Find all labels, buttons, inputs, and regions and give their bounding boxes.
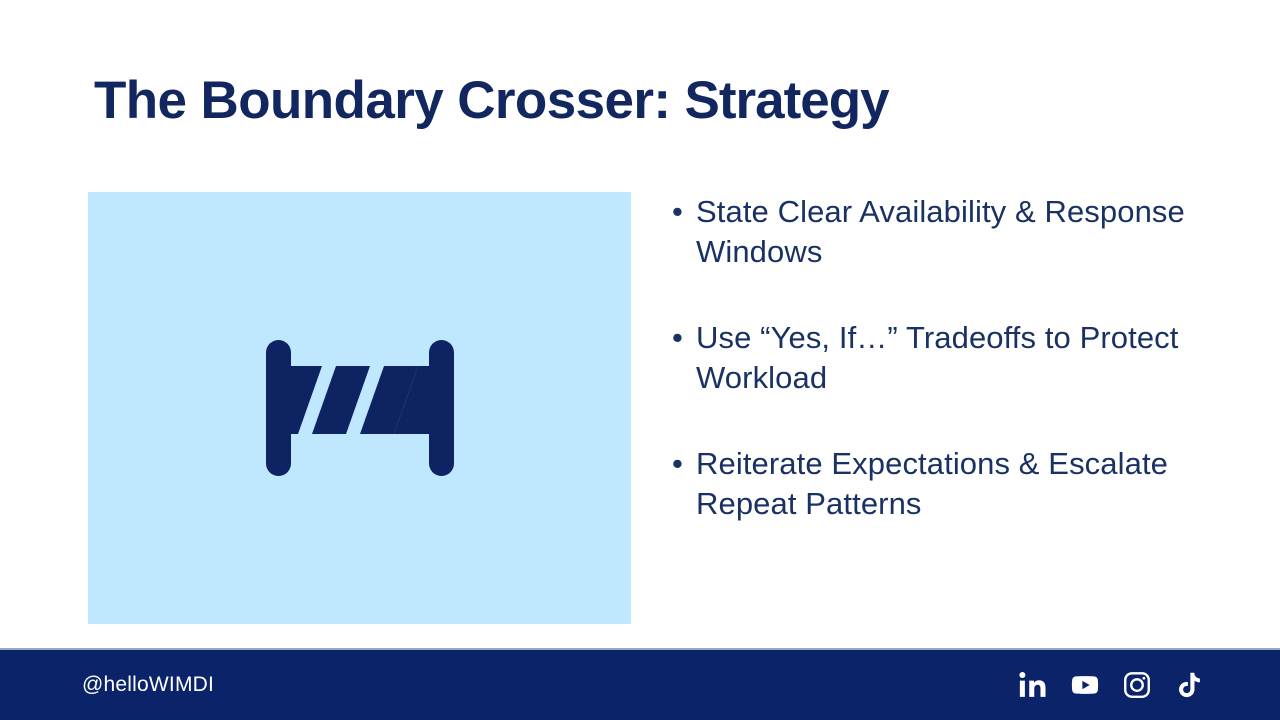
bullet-marker-icon: • [666, 444, 696, 484]
list-item: • State Clear Availability & Response Wi… [666, 192, 1186, 272]
social-icon-group [1018, 670, 1204, 700]
illustration-panel [88, 192, 631, 624]
footer-bar: @helloWIMDI [0, 648, 1280, 720]
page-title-main: The Boundary Crosser: [94, 71, 685, 130]
instagram-icon[interactable] [1122, 670, 1152, 700]
slide-canvas: The Boundary Crosser: Strategy [0, 0, 1280, 720]
bullet-text: State Clear Availability & Response Wind… [696, 192, 1186, 272]
bullet-marker-icon: • [666, 192, 696, 232]
list-item: • Reiterate Expectations & Escalate Repe… [666, 444, 1186, 524]
linkedin-icon[interactable] [1018, 670, 1048, 700]
youtube-icon[interactable] [1070, 670, 1100, 700]
page-title: The Boundary Crosser: Strategy [94, 72, 1134, 129]
bullet-marker-icon: • [666, 318, 696, 358]
social-handle: @helloWIMDI [82, 673, 214, 697]
bullet-text: Use “Yes, If…” Tradeoffs to Protect Work… [696, 318, 1186, 398]
list-item: • Use “Yes, If…” Tradeoffs to Protect Wo… [666, 318, 1186, 398]
tiktok-icon[interactable] [1174, 670, 1204, 700]
page-title-accent: Strategy [685, 71, 889, 130]
bullet-list: • State Clear Availability & Response Wi… [666, 192, 1186, 524]
road-barricade-icon [260, 338, 460, 478]
bullet-text: Reiterate Expectations & Escalate Repeat… [696, 444, 1186, 524]
